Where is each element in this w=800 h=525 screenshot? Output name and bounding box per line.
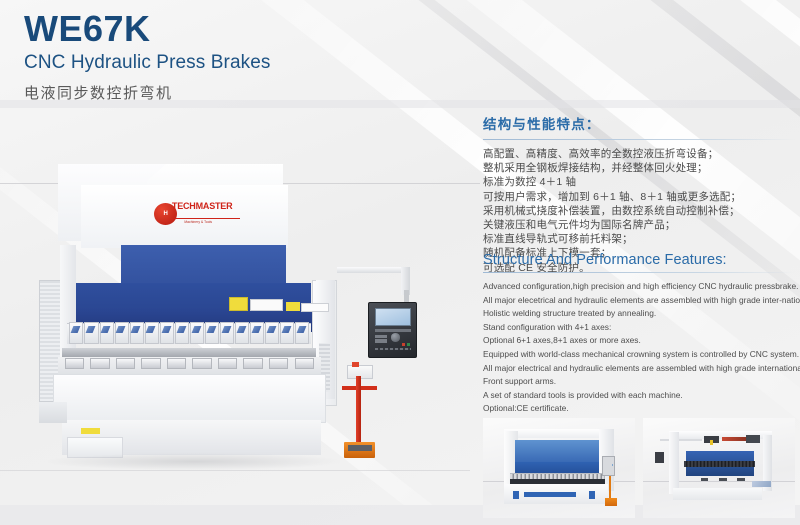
die-holder <box>141 358 160 368</box>
feature-item-en: Equipped with world-class mechanical cro… <box>483 348 795 362</box>
thumb-machine-left-frame <box>669 432 680 494</box>
punch-clamp <box>160 322 174 345</box>
die-holder <box>192 358 211 368</box>
cnc-key <box>375 339 387 342</box>
punch-clamp-row <box>69 322 309 345</box>
cnc-start-button <box>407 343 410 346</box>
feature-item-en: Optional:CE certificate. <box>483 402 795 416</box>
features-list-en: Advanced configuration,high precision an… <box>483 280 795 416</box>
die-holder <box>269 358 288 368</box>
feature-item-en: Front support arms. <box>483 375 795 389</box>
cnc-softkey-bar <box>375 329 411 332</box>
punch-clamp <box>205 322 219 345</box>
punch-clamp <box>265 322 279 345</box>
thumb-swing-arm <box>660 439 703 441</box>
thumbnail-rear-view[interactable] <box>643 418 795 518</box>
die-holder <box>295 358 314 368</box>
feature-item-cn: 标准为数控 4＋1 轴 <box>483 175 795 189</box>
machine-left-support <box>39 402 67 423</box>
features-panel-en: Structure And Performance Features: Adva… <box>483 252 795 416</box>
safety-guard-indicator <box>352 362 360 368</box>
product-title-en: CNC Hydraulic Press Brakes <box>24 52 271 74</box>
thumbnail-gallery <box>483 418 795 518</box>
info-placard <box>250 299 283 311</box>
machine-shadow <box>48 453 339 471</box>
warning-label <box>229 297 248 311</box>
die-holder <box>116 358 135 368</box>
thumbnail-front-view[interactable] <box>483 418 635 518</box>
die-holder-row <box>65 355 314 373</box>
thumb-backgauge-marker <box>719 478 727 481</box>
punch-clamp <box>295 322 309 345</box>
thumb-warning-label <box>710 440 713 445</box>
cnc-screen <box>375 308 411 326</box>
features-heading-en: Structure And Performance Features: <box>483 252 795 272</box>
features-heading-cn: 结构与性能特点： <box>483 113 795 139</box>
heading-divider <box>483 272 795 273</box>
die-holder <box>218 358 237 368</box>
machine-bed <box>53 374 326 423</box>
foot-pedal-treadle <box>348 445 372 451</box>
thumb-machine-top-beam <box>504 429 613 438</box>
thumb-tooling-row <box>684 461 755 467</box>
thumb-machine-base <box>673 488 761 500</box>
punch-clamp <box>130 322 144 345</box>
die-holder <box>167 358 186 368</box>
feature-item-cn: 可按用户需求，增加到 6＋1 轴、8＋1 轴或更多选配； <box>483 190 795 204</box>
punch-clamp <box>145 322 159 345</box>
die-holder <box>90 358 109 368</box>
thumb-backgauge-marker <box>701 478 709 481</box>
feature-item-en: Stand configuration with 4+1 axes: <box>483 321 795 335</box>
logo-wordmark: TECHMASTER <box>172 202 233 211</box>
thumb-hydraulic-cylinder <box>722 437 746 441</box>
feature-item-en: Optional 6+1 axes,8+1 axes or more axes. <box>483 334 795 348</box>
punch-clamp <box>280 322 294 345</box>
feature-item-cn: 标准直线导轨式可移前托料架； <box>483 232 795 246</box>
logo-tagline: Machinery & Tools <box>184 220 212 224</box>
punch-clamp <box>84 322 98 345</box>
punch-clamp <box>69 322 83 345</box>
feature-item-cn: 高配置、高精度、高效率的全数控液压折弯设备； <box>483 147 795 161</box>
brochure-page: WE67K CNC Hydraulic Press Brakes 电液同步数控折… <box>0 0 800 525</box>
feature-item-en: All major elecetrical and hydraulic elem… <box>483 294 795 308</box>
thumb-base-accent <box>589 491 595 499</box>
feature-item-en: A set of standard tools is provided with… <box>483 389 795 403</box>
warning-label <box>286 302 300 311</box>
punch-clamp <box>250 322 264 345</box>
product-title-cn: 电液同步数控折弯机 <box>24 82 271 103</box>
feature-item-en: All major electrical and hydraulic eleme… <box>483 362 795 376</box>
machine-brand-logo: H TECHMASTER Machinery & Tools <box>154 201 243 229</box>
thumb-base-accent <box>513 491 519 499</box>
thumb-support-arm <box>752 481 770 487</box>
thumb-foot-pedal <box>605 498 617 506</box>
punch-clamp <box>115 322 129 345</box>
features-panel-cn: 结构与性能特点： 高配置、高精度、高效率的全数控液压折弯设备； 整机采用全钢板焊… <box>483 113 795 275</box>
thumb-base-accent <box>524 492 576 497</box>
thumb-hydraulic-motor <box>746 435 760 443</box>
controller-swing-arm <box>337 267 408 273</box>
punch-clamp <box>175 322 189 345</box>
die-holder <box>65 358 84 368</box>
thumb-cnc-screen <box>612 464 613 465</box>
thumb-pedal-pole <box>609 476 611 500</box>
thumb-control-box <box>655 452 664 463</box>
heading-divider <box>483 139 795 140</box>
punch-clamp <box>100 322 114 345</box>
feature-item-cn: 整机采用全钢板焊接结构，并经整体回火处理； <box>483 161 795 175</box>
thumb-floor-line <box>643 481 795 482</box>
cnc-controller <box>368 302 417 358</box>
punch-clamp <box>220 322 234 345</box>
die-holder <box>243 358 262 368</box>
cnc-keypad-row <box>375 348 411 351</box>
warning-label <box>81 428 100 434</box>
logo-emblem-letter: H <box>163 211 167 217</box>
punch-clamp <box>190 322 204 345</box>
cnc-key <box>375 335 387 338</box>
feature-item-en: Holistic welding structure treated by an… <box>483 307 795 321</box>
model-title: WE67K <box>24 10 271 48</box>
cnc-jog-knob <box>391 333 400 341</box>
thumb-cnc-controller <box>602 456 616 476</box>
thumb-backgauge-marker <box>737 478 745 481</box>
feature-item-cn: 关键液压和电气元件均为国际名牌产品； <box>483 218 795 232</box>
page-header: WE67K CNC Hydraulic Press Brakes 电液同步数控折… <box>24 10 271 103</box>
feature-item-en: Advanced configuration,high precision an… <box>483 280 795 294</box>
safety-guard-post <box>356 376 361 446</box>
cnc-stop-button <box>402 343 405 346</box>
info-placard <box>301 303 329 312</box>
feature-item-cn: 采用机械式挠度补偿装置，由数控系统自动控制补偿； <box>483 204 795 218</box>
main-product-image: H TECHMASTER Machinery & Tools <box>6 150 476 500</box>
punch-clamp <box>235 322 249 345</box>
